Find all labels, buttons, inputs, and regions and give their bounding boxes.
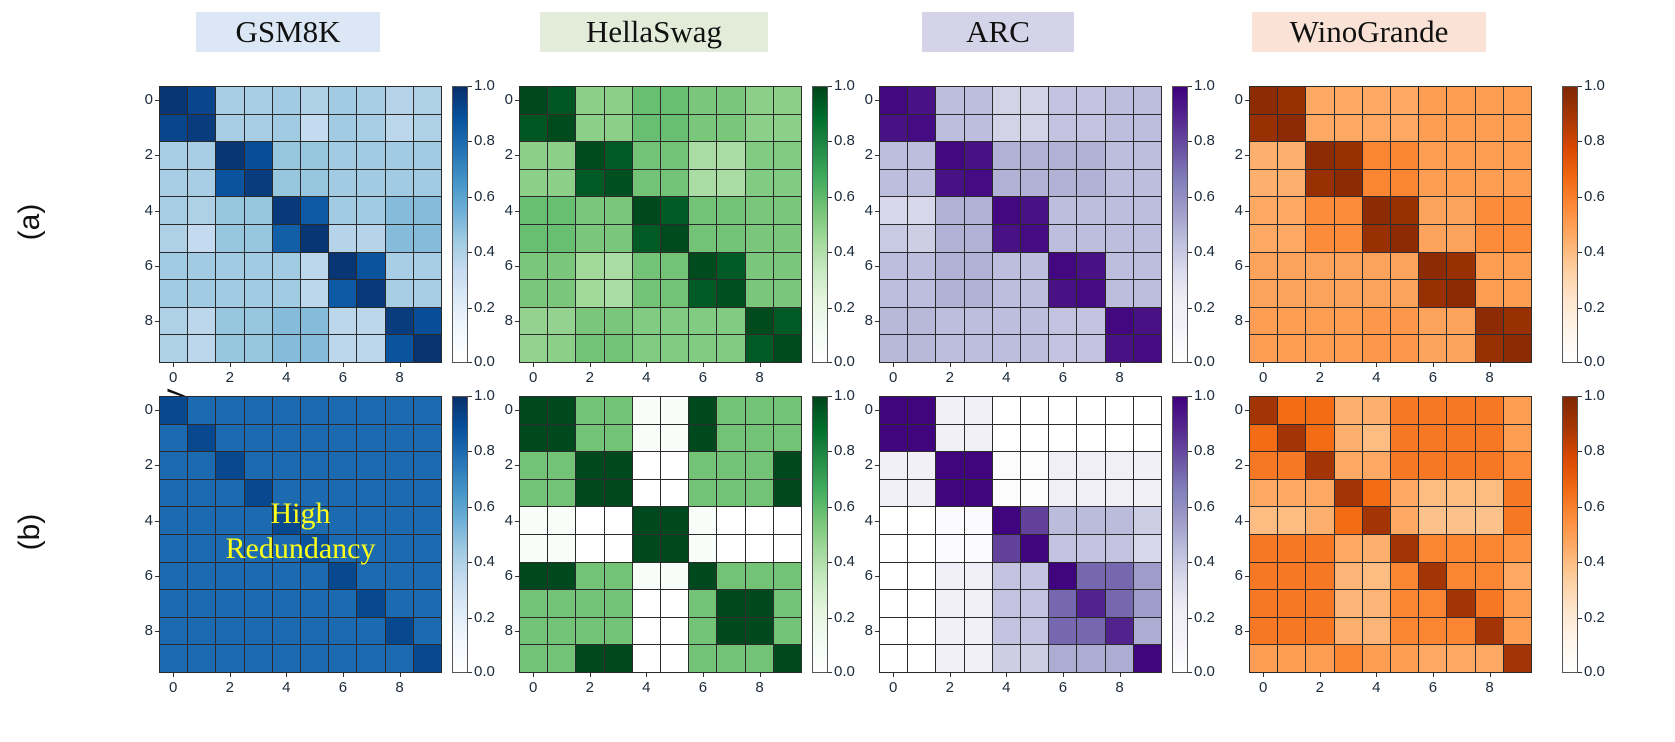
heatmap-cell xyxy=(1419,397,1446,424)
heatmap-cell xyxy=(1363,507,1390,534)
heatmap-cell xyxy=(1476,425,1503,452)
heatmap-cell xyxy=(1391,397,1418,424)
colorbar-tick-label: 0.2 xyxy=(1584,609,1605,626)
heatmap-cell xyxy=(1278,452,1305,479)
heatmap-cell xyxy=(1504,452,1531,479)
colorbar-tick-mark xyxy=(1578,507,1582,508)
heatmap-cell xyxy=(1476,507,1503,534)
x-tick-label: 0 xyxy=(1253,679,1273,696)
heatmap-cell xyxy=(1278,590,1305,617)
colorbar-tick-label: 0.8 xyxy=(1584,442,1605,459)
heatmap-cell xyxy=(1335,645,1362,672)
heatmap-cell xyxy=(1476,563,1503,590)
heatmap-cell xyxy=(1419,507,1446,534)
heatmap-cell xyxy=(1419,590,1446,617)
heatmap-cell xyxy=(1250,452,1277,479)
heatmap-cell xyxy=(1278,535,1305,562)
heatmap-grid-b-WinoGrande[interactable] xyxy=(1249,396,1532,673)
heatmap-cell xyxy=(1476,590,1503,617)
y-tick-mark xyxy=(1245,465,1249,466)
x-tick-mark xyxy=(1490,673,1491,677)
x-tick-label: 6 xyxy=(1423,679,1443,696)
heatmap-cell xyxy=(1447,507,1474,534)
colorbar-tick-label: 1.0 xyxy=(1584,387,1605,404)
heatmap-cell xyxy=(1363,563,1390,590)
y-tick-mark xyxy=(1245,410,1249,411)
colorbar-tick-label: 0.6 xyxy=(1584,498,1605,515)
heatmap-cell xyxy=(1250,535,1277,562)
heatmap-cell xyxy=(1363,425,1390,452)
heatmap-cell xyxy=(1306,480,1333,507)
colorbar-tick-label: 0.0 xyxy=(1584,663,1605,680)
heatmap-cell xyxy=(1391,645,1418,672)
x-tick-label: 2 xyxy=(1310,679,1330,696)
heatmap-cell xyxy=(1278,397,1305,424)
heatmap-cell xyxy=(1504,563,1531,590)
colorbar-tick-mark xyxy=(1578,618,1582,619)
heatmap-cell xyxy=(1335,480,1362,507)
heatmap-cell xyxy=(1278,480,1305,507)
y-tick-mark xyxy=(1245,521,1249,522)
colorbar-tick-mark xyxy=(1578,672,1582,673)
heatmap-cell xyxy=(1278,563,1305,590)
heatmap-cell xyxy=(1363,452,1390,479)
colorbar-tick-mark xyxy=(1578,451,1582,452)
heatmap-cell xyxy=(1504,645,1531,672)
heatmap-cell xyxy=(1419,480,1446,507)
heatmap-cell xyxy=(1391,507,1418,534)
heatmap-cell xyxy=(1335,452,1362,479)
x-tick-mark xyxy=(1320,673,1321,677)
heatmap-cell xyxy=(1447,590,1474,617)
heatmap-cell xyxy=(1278,618,1305,645)
heatmap-cell xyxy=(1447,397,1474,424)
heatmap-cell xyxy=(1391,590,1418,617)
heatmap-cell xyxy=(1419,618,1446,645)
heatmap-cell xyxy=(1335,590,1362,617)
heatmap-cell xyxy=(1363,480,1390,507)
heatmap-cell xyxy=(1306,397,1333,424)
y-tick-label: 8 xyxy=(1219,622,1243,639)
heatmap-cell xyxy=(1504,397,1531,424)
heatmap-cell xyxy=(1504,590,1531,617)
heatmap-cell xyxy=(1419,563,1446,590)
heatmap-cell xyxy=(1250,507,1277,534)
x-tick-label: 4 xyxy=(1366,679,1386,696)
heatmap-cell xyxy=(1306,590,1333,617)
heatmap-cell xyxy=(1504,425,1531,452)
y-tick-label: 2 xyxy=(1219,456,1243,473)
heatmap-cell xyxy=(1250,425,1277,452)
heatmap-cell xyxy=(1306,618,1333,645)
heatmap-cell xyxy=(1306,645,1333,672)
heatmap-cell xyxy=(1476,618,1503,645)
colorbar-tick-mark xyxy=(1578,396,1582,397)
heatmap-cell xyxy=(1504,507,1531,534)
heatmap-cell xyxy=(1335,397,1362,424)
heatmap-cell xyxy=(1250,397,1277,424)
x-tick-mark xyxy=(1376,673,1377,677)
heatmap-cell xyxy=(1335,563,1362,590)
colorbar-b-WinoGrande xyxy=(1562,396,1578,673)
y-tick-mark xyxy=(1245,576,1249,577)
heatmap-cell xyxy=(1306,425,1333,452)
heatmap-cell xyxy=(1476,645,1503,672)
heatmap-cell xyxy=(1391,618,1418,645)
colorbar-tick-mark xyxy=(1578,562,1582,563)
heatmap-cell xyxy=(1419,452,1446,479)
heatmap-cell xyxy=(1363,535,1390,562)
heatmap-cell xyxy=(1447,452,1474,479)
heatmap-cell xyxy=(1447,645,1474,672)
heatmap-cell xyxy=(1447,618,1474,645)
heatmap-cell xyxy=(1391,452,1418,479)
heatmap-cell xyxy=(1419,645,1446,672)
heatmap-cell xyxy=(1306,535,1333,562)
heatmap-cell xyxy=(1278,507,1305,534)
heatmap-cell xyxy=(1447,535,1474,562)
heatmap-cell xyxy=(1419,425,1446,452)
heatmap-cell xyxy=(1476,480,1503,507)
heatmap-cell xyxy=(1306,563,1333,590)
heatmap-cell xyxy=(1278,425,1305,452)
y-tick-mark xyxy=(1245,631,1249,632)
x-tick-mark xyxy=(1263,673,1264,677)
heatmap-cell xyxy=(1504,618,1531,645)
heatmap-cell xyxy=(1363,397,1390,424)
heatmap-cell xyxy=(1476,452,1503,479)
heatmap-cell xyxy=(1250,590,1277,617)
heatmap-cell xyxy=(1504,535,1531,562)
x-tick-mark xyxy=(1433,673,1434,677)
heatmap-cell xyxy=(1363,645,1390,672)
heatmap-cell xyxy=(1363,618,1390,645)
heatmap-cell xyxy=(1306,507,1333,534)
heatmap-cell xyxy=(1278,645,1305,672)
heatmap-cell xyxy=(1391,535,1418,562)
heatmap-cell xyxy=(1250,480,1277,507)
heatmap-cell xyxy=(1476,535,1503,562)
heatmap-cell xyxy=(1447,563,1474,590)
heatmap-cell xyxy=(1335,507,1362,534)
colorbar-tick-label: 0.4 xyxy=(1584,553,1605,570)
heatmap-cell xyxy=(1250,563,1277,590)
heatmap-cell xyxy=(1447,480,1474,507)
heatmap-cell xyxy=(1391,563,1418,590)
heatmap-cell xyxy=(1250,618,1277,645)
heatmap-cell xyxy=(1363,590,1390,617)
heatmap-panel-b-WinoGrande: 02468024681.00.80.60.40.20.0 xyxy=(0,0,1675,742)
heatmap-cell xyxy=(1335,618,1362,645)
heatmap-cell xyxy=(1447,425,1474,452)
heatmap-cell xyxy=(1504,480,1531,507)
heatmap-cell xyxy=(1250,645,1277,672)
figure-root: GSM8KHellaSwagARCWinoGrande (a)Text Redu… xyxy=(0,0,1675,742)
heatmap-cell xyxy=(1335,535,1362,562)
heatmap-cell xyxy=(1391,480,1418,507)
heatmap-cell xyxy=(1335,425,1362,452)
heatmap-cell xyxy=(1419,535,1446,562)
heatmap-cell xyxy=(1476,397,1503,424)
heatmap-cell xyxy=(1306,452,1333,479)
y-tick-label: 6 xyxy=(1219,567,1243,584)
y-tick-label: 0 xyxy=(1219,401,1243,418)
y-tick-label: 4 xyxy=(1219,512,1243,529)
heatmap-cell xyxy=(1391,425,1418,452)
x-tick-label: 8 xyxy=(1480,679,1500,696)
